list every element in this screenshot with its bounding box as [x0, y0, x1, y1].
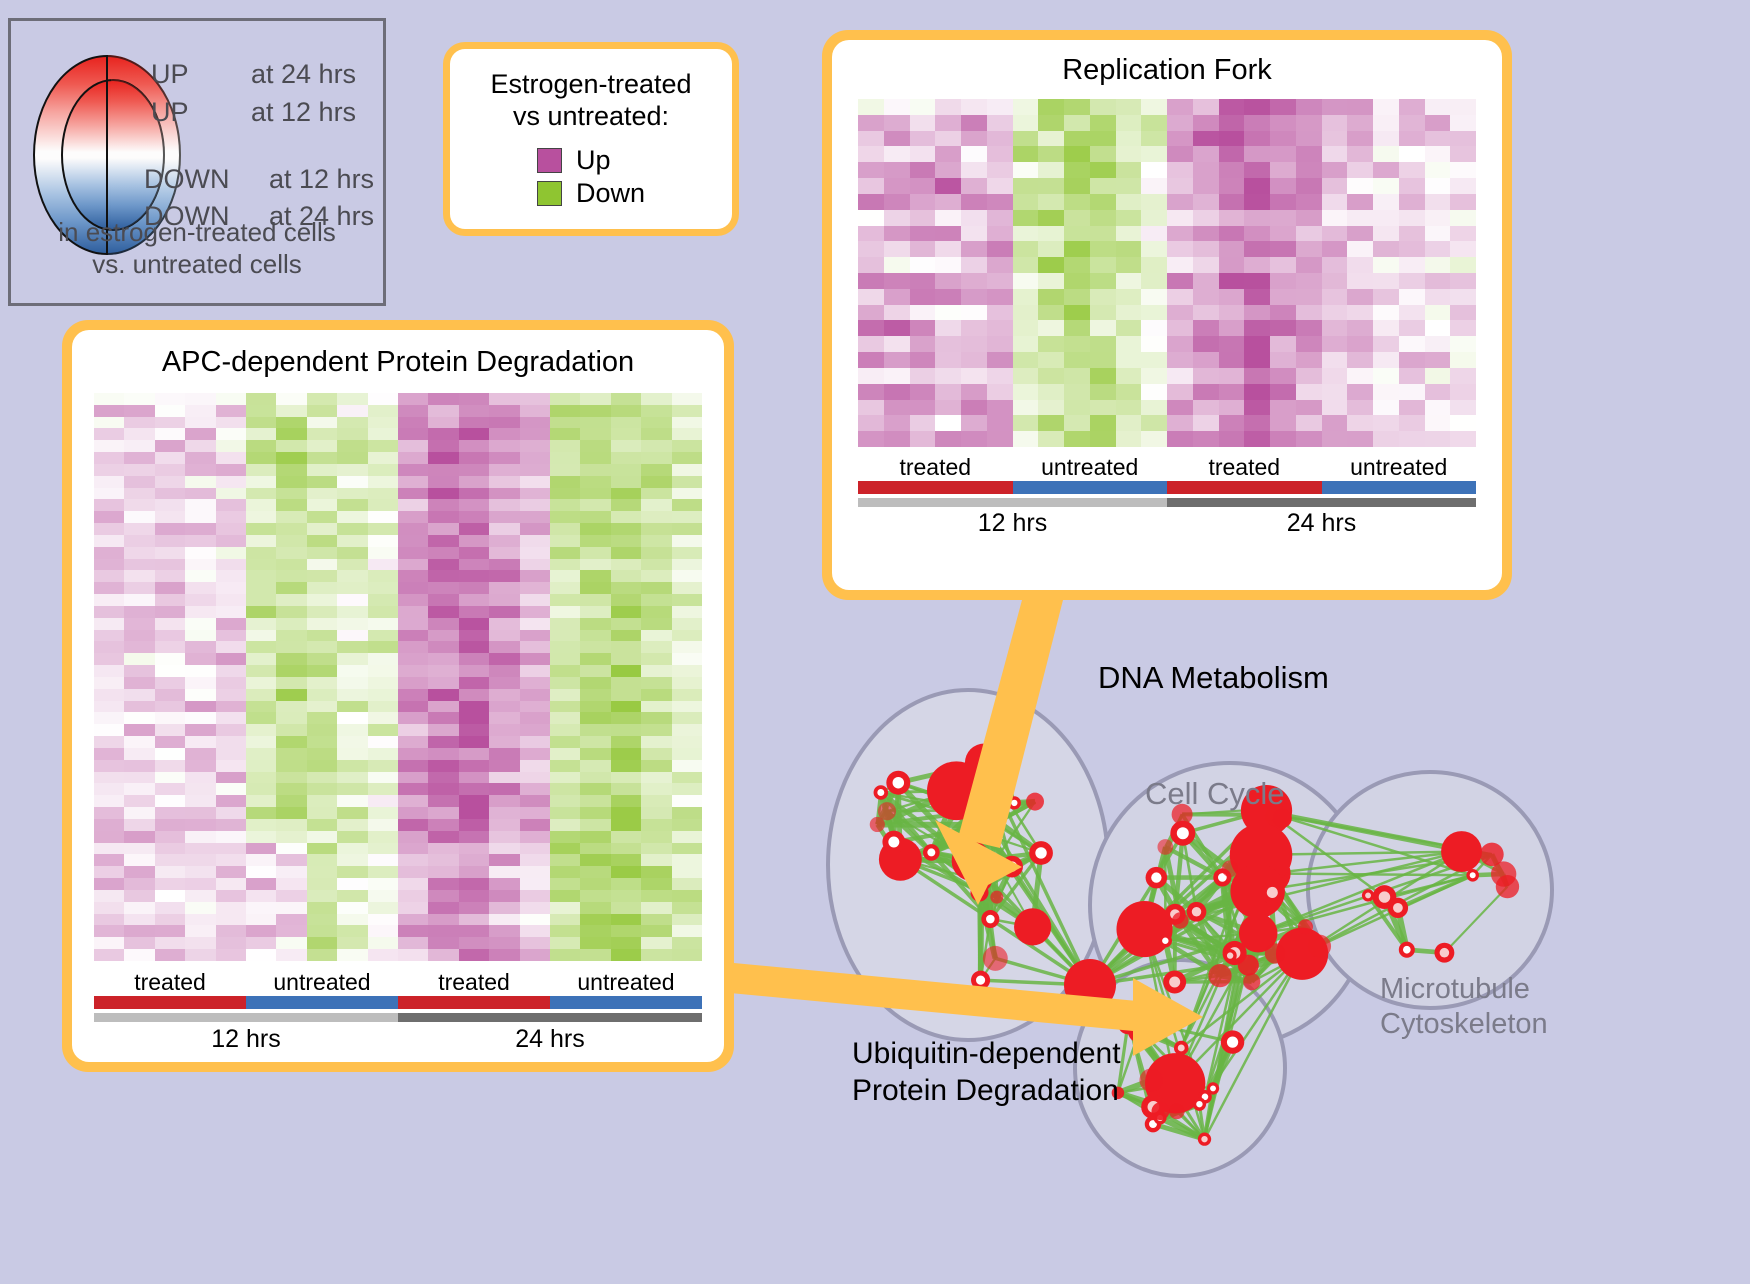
heat-cell: [216, 570, 246, 582]
heat-cell: [550, 464, 580, 476]
heat-cell: [337, 736, 367, 748]
heat-cell: [94, 594, 124, 606]
heat-cell: [94, 748, 124, 760]
network-node[interactable]: [1222, 860, 1239, 877]
network-node[interactable]: [1298, 919, 1313, 934]
heat-cell: [94, 488, 124, 500]
heat-cell: [398, 760, 428, 772]
heat-cell: [935, 415, 961, 431]
heat-cell: [580, 547, 610, 559]
heat-cell: [935, 146, 961, 162]
heat-cell: [858, 352, 884, 368]
heat-cell: [672, 523, 702, 535]
heat-cell: [520, 748, 550, 760]
caption-line-2: vs. untreated cells: [11, 249, 383, 281]
heat-cell: [884, 273, 910, 289]
heat-cell: [641, 795, 671, 807]
network-node-core[interactable]: [976, 976, 985, 985]
heat-cell: [428, 914, 458, 926]
heat-cell: [185, 630, 215, 642]
heat-cell: [672, 511, 702, 523]
heat-cell: [307, 890, 337, 902]
network-node[interactable]: [1496, 875, 1519, 898]
heat-cell: [580, 523, 610, 535]
heat-cell: [1347, 146, 1373, 162]
heat-cell: [185, 559, 215, 571]
network-node-core[interactable]: [986, 915, 995, 924]
heat-cell: [1064, 368, 1090, 384]
heat-cell: [489, 677, 519, 689]
heat-cell: [155, 689, 185, 701]
network-node-core[interactable]: [1169, 977, 1180, 988]
heat-cell: [1450, 241, 1476, 257]
heat-cell: [1116, 368, 1142, 384]
heat-cell: [1270, 352, 1296, 368]
network-node[interactable]: [1208, 964, 1231, 987]
heat-cell: [611, 523, 641, 535]
heat-cell: [459, 866, 489, 878]
heat-cell: [1425, 226, 1451, 242]
heat-cell: [1013, 178, 1039, 194]
heat-cell: [368, 772, 398, 784]
heat-cell: [276, 760, 306, 772]
heat-cell: [910, 178, 936, 194]
heat-cell: [1219, 178, 1245, 194]
heat-cell: [1013, 99, 1039, 115]
heat-cell: [398, 428, 428, 440]
heat-cell: [307, 914, 337, 926]
heat-cell: [94, 417, 124, 429]
heat-cell: [1296, 305, 1322, 321]
heat-cell: [368, 618, 398, 630]
heat-cell: [672, 677, 702, 689]
heat-cell: [580, 748, 610, 760]
cond-label-0: treated: [858, 454, 1013, 481]
heat-cell: [935, 320, 961, 336]
heat-cell: [398, 748, 428, 760]
network-node-core[interactable]: [1178, 1044, 1185, 1051]
heat-cell: [155, 949, 185, 961]
heat-cell: [337, 653, 367, 665]
heat-cell: [520, 452, 550, 464]
heat-cell: [276, 854, 306, 866]
heat-cell: [124, 476, 154, 488]
heat-cell: [459, 712, 489, 724]
heat-cell: [307, 594, 337, 606]
heat-cell: [216, 890, 246, 902]
heat-cell: [672, 499, 702, 511]
heat-cell: [276, 677, 306, 689]
heat-cell: [337, 866, 367, 878]
heat-cell: [337, 724, 367, 736]
heat-cell: [94, 795, 124, 807]
heat-cell: [398, 724, 428, 736]
heat-cell: [1141, 210, 1167, 226]
cond-label-1: untreated: [246, 969, 398, 996]
network-node[interactable]: [878, 802, 896, 820]
heat-cell: [246, 440, 276, 452]
heat-cell: [580, 677, 610, 689]
network-node-core[interactable]: [1227, 1036, 1238, 1047]
heat-cell: [185, 594, 215, 606]
heat-cell: [246, 914, 276, 926]
network-node-core[interactable]: [1365, 892, 1371, 898]
heat-cell: [216, 902, 246, 914]
heat-cell: [961, 146, 987, 162]
heat-cell: [611, 559, 641, 571]
network-node-core[interactable]: [1227, 952, 1233, 958]
network-node-core[interactable]: [1210, 1085, 1216, 1091]
heat-cell: [489, 630, 519, 642]
heat-cell: [94, 440, 124, 452]
heat-cell: [155, 393, 185, 405]
heat-cell: [550, 890, 580, 902]
heat-cell: [641, 393, 671, 405]
heat-cell: [428, 866, 458, 878]
heat-cell: [124, 937, 154, 949]
heat-cell: [94, 854, 124, 866]
heat-cell: [1167, 162, 1193, 178]
heat-cell: [459, 760, 489, 772]
heat-cell: [550, 547, 580, 559]
heat-cell: [276, 618, 306, 630]
updown-legend: Estrogen-treated vs untreated: Up Down: [443, 42, 739, 236]
network-node[interactable]: [1026, 793, 1044, 811]
heat-cell: [276, 665, 306, 677]
heat-cell: [368, 440, 398, 452]
heatmap-apc: [94, 393, 702, 961]
heat-cell: [124, 866, 154, 878]
heat-cell: [216, 724, 246, 736]
network-node-core[interactable]: [893, 777, 904, 788]
heat-cell: [155, 701, 185, 713]
network-node[interactable]: [1116, 901, 1172, 957]
heat-cell: [1193, 257, 1219, 273]
heat-cell: [1244, 162, 1270, 178]
heat-cell: [884, 352, 910, 368]
network-node[interactable]: [983, 946, 1008, 971]
heat-cell: [1296, 415, 1322, 431]
heat-cell: [368, 807, 398, 819]
network-node-core[interactable]: [975, 888, 984, 897]
heat-cell: [368, 701, 398, 713]
heat-cell: [216, 712, 246, 724]
heat-cell: [185, 748, 215, 760]
network-node-core[interactable]: [1162, 938, 1168, 944]
heat-cell: [580, 594, 610, 606]
heat-cell: [489, 854, 519, 866]
heat-cell: [961, 194, 987, 210]
network-node-core[interactable]: [1192, 907, 1201, 916]
network-node-core[interactable]: [1201, 1136, 1207, 1142]
heat-cell: [1038, 384, 1064, 400]
heat-cell: [961, 162, 987, 178]
heat-cell: [428, 843, 458, 855]
heat-cell: [1013, 146, 1039, 162]
heat-cell: [580, 701, 610, 713]
heat-cell: [1038, 320, 1064, 336]
network-node-core[interactable]: [974, 828, 984, 838]
heat-cell: [550, 748, 580, 760]
heat-cell: [1116, 226, 1142, 242]
network-node[interactable]: [1265, 943, 1285, 963]
heat-cell: [155, 570, 185, 582]
heat-cell: [550, 760, 580, 772]
network-node[interactable]: [1014, 908, 1051, 945]
heat-cell: [124, 653, 154, 665]
network-node-core[interactable]: [1007, 861, 1017, 871]
heat-cell: [1013, 368, 1039, 384]
heat-cell: [611, 831, 641, 843]
heat-cell: [641, 925, 671, 937]
heat-cell: [1347, 289, 1373, 305]
heat-cell: [124, 772, 154, 784]
heat-cell: [1347, 352, 1373, 368]
heat-cell: [276, 902, 306, 914]
network-node-core[interactable]: [1011, 800, 1017, 806]
heat-cell: [489, 724, 519, 736]
heat-cell: [1013, 431, 1039, 447]
heat-cell: [489, 488, 519, 500]
heat-cell: [398, 417, 428, 429]
heat-cell: [459, 559, 489, 571]
heat-cell: [1064, 146, 1090, 162]
heat-cell: [672, 559, 702, 571]
network-node[interactable]: [1116, 1006, 1140, 1030]
heat-cell: [307, 925, 337, 937]
heat-cell: [337, 914, 367, 926]
heat-cell: [1270, 320, 1296, 336]
heat-cell: [459, 606, 489, 618]
condition-bar-segment: [1322, 481, 1477, 494]
heat-cell: [987, 415, 1013, 431]
network-node[interactable]: [965, 743, 1004, 782]
heat-cell: [1090, 99, 1116, 115]
network-node[interactable]: [990, 891, 1003, 904]
network-node[interactable]: [1157, 839, 1173, 855]
heat-cell: [1450, 99, 1476, 115]
heat-cell: [337, 701, 367, 713]
heat-cell: [1373, 352, 1399, 368]
network-node-core[interactable]: [1379, 891, 1390, 902]
network-node-core[interactable]: [1177, 827, 1189, 839]
heat-cell: [1244, 99, 1270, 115]
heat-cell: [246, 417, 276, 429]
network-node[interactable]: [1243, 973, 1260, 990]
network-node-core[interactable]: [1393, 903, 1403, 913]
heat-cell: [489, 902, 519, 914]
heat-cell: [368, 795, 398, 807]
heat-cell: [1399, 115, 1425, 131]
heat-cell: [307, 393, 337, 405]
heat-cell: [987, 400, 1013, 416]
heat-cell: [124, 807, 154, 819]
heat-cell: [611, 772, 641, 784]
heat-cell: [398, 890, 428, 902]
heat-cell: [580, 488, 610, 500]
heat-cell: [185, 795, 215, 807]
heat-cell: [428, 464, 458, 476]
network-node-core[interactable]: [1267, 887, 1278, 898]
heat-cell: [641, 701, 671, 713]
heat-cell: [459, 795, 489, 807]
heat-cell: [428, 476, 458, 488]
heat-cell: [1425, 352, 1451, 368]
heat-cell: [1425, 289, 1451, 305]
network-node-core[interactable]: [969, 805, 980, 816]
time-bar-segment: [94, 1013, 398, 1022]
network-node[interactable]: [1308, 935, 1331, 958]
heat-cell: [1270, 257, 1296, 273]
network-node[interactable]: [1169, 1103, 1185, 1119]
heat-cell: [216, 428, 246, 440]
heat-cell: [987, 384, 1013, 400]
heat-cell: [276, 488, 306, 500]
heat-cell: [1167, 368, 1193, 384]
heat-cell: [1141, 384, 1167, 400]
heat-cell: [337, 405, 367, 417]
heat-cell: [1193, 131, 1219, 147]
heat-cell: [428, 902, 458, 914]
network-node-core[interactable]: [1440, 948, 1450, 958]
heat-cell: [124, 890, 154, 902]
network-node[interactable]: [1238, 955, 1259, 976]
heat-cell: [550, 582, 580, 594]
network-node-core[interactable]: [888, 837, 899, 848]
heat-cell: [641, 890, 671, 902]
network-node-core[interactable]: [996, 727, 1007, 738]
heat-cell: [1450, 415, 1476, 431]
heat-cell: [858, 273, 884, 289]
network-node-core[interactable]: [927, 848, 935, 856]
time-bar-segment: [1167, 498, 1476, 507]
network-node[interactable]: [1152, 1102, 1170, 1120]
heat-cell: [489, 925, 519, 937]
heat-cell: [94, 701, 124, 713]
heat-cell: [641, 559, 671, 571]
heat-cell: [337, 428, 367, 440]
heat-cell: [611, 641, 641, 653]
network-node-core[interactable]: [1151, 872, 1161, 882]
heat-cell: [672, 452, 702, 464]
heat-cell: [124, 630, 154, 642]
heat-cell: [1141, 257, 1167, 273]
heat-cell: [1347, 99, 1373, 115]
heat-cell: [368, 393, 398, 405]
heat-cell: [550, 594, 580, 606]
heat-cell: [307, 689, 337, 701]
heat-cell: [520, 819, 550, 831]
heat-cell: [1038, 305, 1064, 321]
heat-cell: [1167, 289, 1193, 305]
heat-cell: [1270, 210, 1296, 226]
heat-cell: [611, 606, 641, 618]
heat-cell: [155, 440, 185, 452]
network-node[interactable]: [1172, 912, 1188, 928]
network-node-core[interactable]: [1470, 872, 1476, 878]
heat-cell: [884, 400, 910, 416]
heat-cell: [910, 162, 936, 178]
heat-cell: [428, 783, 458, 795]
heat-cell: [1244, 415, 1270, 431]
heat-cell: [428, 949, 458, 961]
heat-cell: [672, 925, 702, 937]
network-node-core[interactable]: [877, 789, 884, 796]
heat-cell: [1116, 320, 1142, 336]
heat-cell: [1244, 273, 1270, 289]
network-node[interactable]: [1064, 959, 1116, 1011]
heat-cell: [1141, 352, 1167, 368]
network-node[interactable]: [1441, 831, 1482, 872]
network-node-core[interactable]: [1196, 1101, 1202, 1107]
heat-cell: [276, 393, 306, 405]
heat-cell: [155, 464, 185, 476]
heat-cell: [550, 393, 580, 405]
heat-cell: [580, 630, 610, 642]
heat-cell: [884, 131, 910, 147]
cond-label-2: treated: [398, 969, 550, 996]
network-node[interactable]: [1139, 1068, 1162, 1091]
heat-cell: [520, 724, 550, 736]
heat-cell: [910, 368, 936, 384]
heat-cell: [1399, 210, 1425, 226]
heat-cell: [1064, 178, 1090, 194]
heat-cell: [910, 257, 936, 273]
heat-cell: [641, 641, 671, 653]
heat-cell: [910, 352, 936, 368]
heat-cell: [276, 937, 306, 949]
heat-cell: [961, 384, 987, 400]
heat-cell: [155, 488, 185, 500]
heat-cell: [246, 831, 276, 843]
heat-cell: [611, 488, 641, 500]
heat-cell: [124, 499, 154, 511]
heat-cell: [520, 772, 550, 784]
heat-cell: [1296, 257, 1322, 273]
heat-cell: [489, 653, 519, 665]
heat-cell: [216, 783, 246, 795]
heat-cell: [1064, 131, 1090, 147]
heat-cell: [276, 701, 306, 713]
heat-cell: [1038, 146, 1064, 162]
heat-cell: [489, 843, 519, 855]
heat-cell: [961, 305, 987, 321]
heat-cell: [641, 594, 671, 606]
cluster-label-cell-cycle: Cell Cycle: [1145, 776, 1285, 812]
heat-cell: [1322, 210, 1348, 226]
heat-cell: [550, 795, 580, 807]
heat-cell: [1270, 162, 1296, 178]
heat-cell: [1141, 336, 1167, 352]
network-node-core[interactable]: [1403, 946, 1411, 954]
network-node-core[interactable]: [1035, 847, 1046, 858]
heat-cell: [1013, 210, 1039, 226]
heat-cell: [307, 783, 337, 795]
heat-cell: [550, 665, 580, 677]
heat-cell: [987, 226, 1013, 242]
heat-cell: [368, 405, 398, 417]
heat-cell: [155, 937, 185, 949]
heat-cell: [94, 547, 124, 559]
heat-cell: [124, 570, 154, 582]
heat-cell: [428, 488, 458, 500]
heat-cell: [935, 226, 961, 242]
heat-cell: [428, 559, 458, 571]
heat-cell: [1038, 400, 1064, 416]
heat-cell: [1425, 131, 1451, 147]
heat-cell: [1425, 178, 1451, 194]
heat-cell: [489, 949, 519, 961]
